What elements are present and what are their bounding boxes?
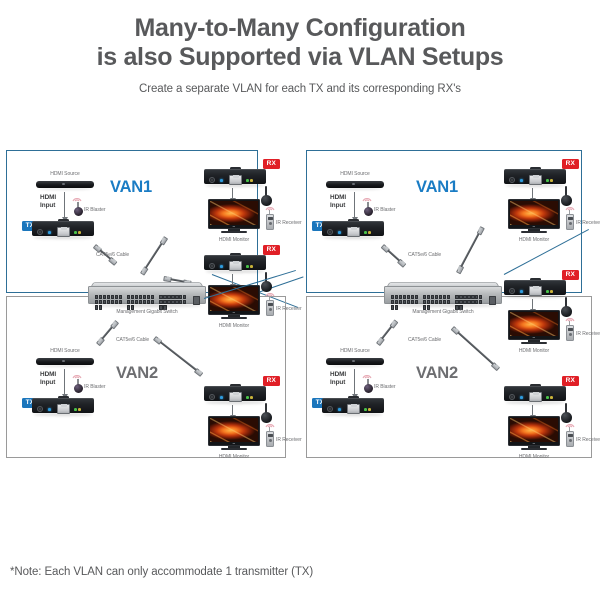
- monitor-bezel: ▬: [508, 416, 560, 446]
- unit-shadow: [506, 295, 564, 298]
- monitor-foot: [221, 448, 247, 450]
- unit-led-blue: [220, 179, 223, 182]
- left-van1-ir-blaster-wave-icon: [71, 195, 83, 202]
- right-van1-hdmi-input-label-2: Input: [330, 202, 345, 209]
- unit-body: [322, 398, 384, 413]
- switch-port: [171, 295, 174, 300]
- switch-port: [175, 295, 178, 300]
- unit-body: [504, 280, 566, 295]
- unit-power-knob: [327, 406, 333, 412]
- unit-led-amber: [250, 265, 253, 268]
- unit-led-amber: [250, 179, 253, 182]
- right-van1-rx2-ir-receiver: [565, 321, 575, 341]
- header: Many-to-Many Configuration is also Suppo…: [0, 0, 600, 95]
- unit-body: [504, 386, 566, 401]
- ir-receiver-body: [266, 300, 274, 316]
- switch-port: [131, 295, 134, 300]
- switch-port: [167, 295, 170, 300]
- monitor-screen-image: [210, 418, 258, 442]
- page-title-line-2: is also Supported via VLAN Setups: [0, 43, 600, 72]
- right-van2-hdmi-input-arrow: [354, 369, 355, 394]
- monitor-logo: ▬: [209, 442, 259, 445]
- right-van1-tx-unit: [322, 218, 384, 239]
- page-root: Many-to-Many Configuration is also Suppo…: [0, 0, 600, 600]
- monitor-logo: ▬: [509, 225, 559, 228]
- unit-shadow: [206, 184, 264, 187]
- unit-led-green: [246, 265, 249, 268]
- switch-port: [471, 295, 474, 300]
- right-van1-rx2-ir-receiver-label: IR Receiver: [576, 331, 600, 337]
- unit-led-blue: [338, 408, 341, 411]
- right-van2-ir-blaster: [362, 379, 374, 393]
- switch-port: [467, 295, 470, 300]
- left-van1-hdmi-source: [36, 179, 94, 190]
- left-van2-ir-blaster: [72, 379, 84, 393]
- switch-chassis: [88, 286, 206, 304]
- unit-power-knob: [327, 229, 333, 235]
- page-title-line-1: Many-to-Many Configuration: [0, 14, 600, 43]
- left-van2-rx1-ir-receiver: [265, 427, 275, 447]
- unit-led-amber: [368, 231, 371, 234]
- left-van2-rx1-unit: [204, 383, 266, 404]
- left-van2-rx1-monitor-label: HDMI Monitor: [204, 454, 264, 460]
- right-van1-ir-blaster: [362, 202, 374, 216]
- switch-shadow: [92, 304, 202, 307]
- switch-port: [103, 295, 106, 300]
- switch-port: [119, 295, 122, 300]
- right-van2-rx1-monitor-label: HDMI Monitor: [504, 454, 564, 460]
- monitor-logo: ▬: [209, 225, 259, 228]
- source-disc-body: [36, 181, 94, 188]
- unit-shadow: [34, 236, 92, 239]
- right-van1-rx1-monitor-label: HDMI Monitor: [504, 237, 564, 243]
- left-van1-rx1-hdmi-arrow: [232, 188, 233, 198]
- unit-led-amber: [78, 408, 81, 411]
- left-van2-rx1-hdmi-arrow: [232, 405, 233, 415]
- switch-port: [107, 295, 110, 300]
- right-van2-rx1-ir-receiver-label: IR Receiver: [576, 437, 600, 443]
- left-van1-hdmi-input-label-1: HDMI: [40, 194, 56, 201]
- unit-power-knob: [37, 229, 43, 235]
- right-van2-tx-unit: [322, 395, 384, 416]
- left-van1-rx2-ir-receiver: [265, 296, 275, 316]
- right-van2-hdmi-input-label-1: HDMI: [330, 371, 346, 378]
- unit-led-blue: [520, 290, 523, 293]
- left-van1-rx2-ir-receiver-label: IR Receiver: [276, 306, 302, 312]
- unit-power-knob: [509, 394, 515, 400]
- unit-led-green: [546, 396, 549, 399]
- unit-power-knob: [509, 288, 515, 294]
- switch-port: [163, 295, 166, 300]
- switch-port: [463, 295, 466, 300]
- right-van2-rx1-monitor: ▬: [508, 416, 560, 452]
- monitor-screen-image: [510, 201, 558, 225]
- switch-port: [403, 295, 406, 300]
- right-van2-rx1-ir-receiver: [565, 427, 575, 447]
- left-van1-ir-blaster-label: IR Blaster: [84, 207, 105, 213]
- monitor-foot: [521, 231, 547, 233]
- ir-blaster-bulb: [74, 384, 83, 393]
- unit-body: [32, 398, 94, 413]
- unit-shadow: [506, 184, 564, 187]
- right-van1-ir-blaster-wave-icon: [361, 195, 373, 202]
- switch-port: [435, 295, 438, 300]
- switch-port: [455, 295, 458, 300]
- ir-receiver-body: [566, 431, 574, 447]
- unit-body: [204, 255, 266, 270]
- left-van2-hdmi-input-label-1: HDMI: [40, 371, 56, 378]
- switch-port: [443, 295, 446, 300]
- unit-led-amber: [78, 231, 81, 234]
- left-van1-hdmi-input-label-2: Input: [40, 202, 55, 209]
- source-disc-body: [326, 181, 384, 188]
- ir-blaster-bulb: [364, 207, 373, 216]
- right-van2-label: VAN2: [416, 364, 458, 383]
- right-van1-hdmi-input-arrow: [354, 192, 355, 217]
- left-van2-rx1-monitor: ▬: [208, 416, 260, 452]
- right-van2-hdmi-input-label-2: Input: [330, 379, 345, 386]
- monitor-foot: [521, 448, 547, 450]
- switch-port: [411, 295, 414, 300]
- left-van1-rx1-ir-receiver: [265, 210, 275, 230]
- unit-led-blue: [520, 179, 523, 182]
- monitor-logo: ▬: [209, 311, 259, 314]
- right-diagram: VAN1 VAN2 HDMI Source HDMI Input IR Blas…: [304, 148, 596, 466]
- footer-note: *Note: Each VLAN can only accommodate 1 …: [10, 566, 313, 578]
- page-subtitle: Create a separate VLAN for each TX and i…: [0, 83, 600, 95]
- ir-receiver-body: [266, 214, 274, 230]
- left-van2-label: VAN2: [116, 364, 158, 383]
- monitor-screen-image: [210, 201, 258, 225]
- unit-power-knob: [209, 177, 215, 183]
- right-van1-rx1-unit: [504, 166, 566, 187]
- switch-port: [143, 295, 146, 300]
- monitor-logo: ▬: [509, 442, 559, 445]
- left-van1-hdmi-input-arrow: [64, 192, 65, 217]
- right-van1-hdmi-source: [326, 179, 384, 190]
- monitor-foot: [221, 317, 247, 319]
- ir-blaster-bulb: [74, 207, 83, 216]
- unit-body: [504, 169, 566, 184]
- unit-power-knob: [209, 394, 215, 400]
- unit-led-amber: [550, 396, 553, 399]
- monitor-bezel: ▬: [508, 199, 560, 229]
- switch-port: [95, 300, 98, 305]
- right-gigabit-switch-label: Management Gigabit Switch: [384, 309, 502, 315]
- monitor-foot: [521, 342, 547, 344]
- switch-port: [95, 295, 98, 300]
- ir-receiver-body: [266, 431, 274, 447]
- switch-port: [111, 295, 114, 300]
- right-van1-rx1-ir-receiver: [565, 210, 575, 230]
- monitor-logo: ▬: [509, 336, 559, 339]
- unit-body: [204, 386, 266, 401]
- unit-shadow: [506, 401, 564, 404]
- unit-led-blue: [220, 396, 223, 399]
- switch-port: [479, 295, 482, 300]
- monitor-screen-image: [510, 312, 558, 336]
- switch-port: [439, 295, 442, 300]
- switch-port: [391, 295, 394, 300]
- source-shadow: [39, 365, 91, 367]
- left-van1-tx-unit: [32, 218, 94, 239]
- right-van1-hdmi-input-label-1: HDMI: [330, 194, 346, 201]
- right-van1-rx2-monitor-label: HDMI Monitor: [504, 348, 564, 354]
- unit-power-knob: [37, 406, 43, 412]
- unit-led-amber: [550, 290, 553, 293]
- left-van1-rx2-unit: [204, 252, 266, 273]
- switch-port: [127, 295, 130, 300]
- left-van1-rx1-monitor: ▬: [208, 199, 260, 235]
- unit-led-green: [546, 290, 549, 293]
- left-diagram: VAN1 VAN2 HDMI Source HDMI Input IR Blas…: [4, 148, 296, 466]
- switch-port: [447, 295, 450, 300]
- switch-port: [183, 295, 186, 300]
- switch-port: [407, 295, 410, 300]
- switch-port: [427, 295, 430, 300]
- switch-sfp-port: [489, 296, 496, 305]
- left-van1-rx2-monitor: ▬: [208, 285, 260, 321]
- right-van1-ir-blaster-label: IR Blaster: [374, 207, 395, 213]
- switch-port: [115, 295, 118, 300]
- left-van2-rx1-ir-receiver-label: IR Receiver: [276, 437, 302, 443]
- switch-port: [139, 295, 142, 300]
- right-van1-rx2-monitor: ▬: [508, 310, 560, 346]
- unit-body: [204, 169, 266, 184]
- unit-led-blue: [48, 231, 51, 234]
- switch-chassis: [384, 286, 502, 304]
- right-van2-hdmi-source: [326, 356, 384, 367]
- monitor-screen-image: [210, 287, 258, 311]
- right-van2-ir-blaster-wave-icon: [361, 372, 373, 379]
- left-van2-cat-cable-label: CAT5e/6 Cable: [116, 337, 149, 343]
- unit-led-green: [74, 231, 77, 234]
- unit-shadow: [206, 270, 264, 273]
- unit-led-amber: [250, 396, 253, 399]
- unit-body: [322, 221, 384, 236]
- ir-blaster-bulb: [364, 384, 373, 393]
- unit-power-knob: [509, 177, 515, 183]
- left-van2-hdmi-input-label-2: Input: [40, 379, 55, 386]
- switch-port: [99, 295, 102, 300]
- source-disc-body: [326, 358, 384, 365]
- left-van1-cat-cable-label: CAT5e/6 Cable: [96, 252, 129, 258]
- left-van1-hdmi-source-label: HDMI Source: [36, 171, 94, 177]
- left-van1-rx2-monitor-label: HDMI Monitor: [204, 323, 264, 329]
- unit-shadow: [324, 236, 382, 239]
- right-van1-cat-cable-label: CAT5e/6 Cable: [408, 252, 441, 258]
- unit-body: [32, 221, 94, 236]
- switch-port: [431, 295, 434, 300]
- source-shadow: [39, 188, 91, 190]
- unit-led-green: [74, 408, 77, 411]
- right-van1-rx2-unit: [504, 277, 566, 298]
- switch-port: [135, 295, 138, 300]
- right-van1-rx1-hdmi-arrow: [532, 188, 533, 198]
- right-van1-hdmi-source-label: HDMI Source: [326, 171, 384, 177]
- right-van1-label: VAN1: [416, 178, 458, 197]
- switch-port: [475, 295, 478, 300]
- monitor-bezel: ▬: [208, 416, 260, 446]
- left-van2-ir-blaster-label: IR Blaster: [84, 384, 105, 390]
- right-van2-rx1-unit: [504, 383, 566, 404]
- right-van1-rx1-ir-receiver-label: IR Receiver: [576, 220, 600, 226]
- switch-sfp-port: [193, 296, 200, 305]
- switch-port: [459, 295, 462, 300]
- left-van2-tx-unit: [32, 395, 94, 416]
- unit-led-blue: [48, 408, 51, 411]
- unit-led-blue: [520, 396, 523, 399]
- right-van2-hdmi-source-label: HDMI Source: [326, 348, 384, 354]
- unit-led-green: [246, 396, 249, 399]
- monitor-bezel: ▬: [508, 310, 560, 340]
- diagram-stage: VAN1 VAN2 HDMI Source HDMI Input IR Blas…: [4, 148, 596, 466]
- ir-receiver-body: [566, 214, 574, 230]
- unit-led-amber: [368, 408, 371, 411]
- monitor-bezel: ▬: [208, 199, 260, 229]
- unit-led-blue: [220, 265, 223, 268]
- switch-port: [179, 295, 182, 300]
- unit-shadow: [34, 413, 92, 416]
- left-van1-rx1-ir-receiver-label: IR Receiver: [276, 220, 302, 226]
- unit-led-green: [364, 408, 367, 411]
- source-shadow: [329, 365, 381, 367]
- left-van1-label: VAN1: [110, 178, 152, 197]
- ir-receiver-body: [566, 325, 574, 341]
- left-van2-hdmi-source-label: HDMI Source: [36, 348, 94, 354]
- switch-port: [423, 295, 426, 300]
- left-van2-ir-blaster-wave-icon: [71, 372, 83, 379]
- right-van1-rx1-monitor: ▬: [508, 199, 560, 235]
- right-van1-rx2-hdmi-arrow: [532, 299, 533, 309]
- switch-port: [159, 295, 162, 300]
- switch-port: [395, 295, 398, 300]
- switch-port: [399, 295, 402, 300]
- left-van1-ir-blaster: [72, 202, 84, 216]
- left-gigabit-switch: [88, 282, 206, 308]
- left-gigabit-switch-label: Management Gigabit Switch: [88, 309, 206, 315]
- switch-shadow: [388, 304, 498, 307]
- left-van2-hdmi-source: [36, 356, 94, 367]
- right-van2-cat-cable-label: CAT5e/6 Cable: [408, 337, 441, 343]
- unit-led-green: [546, 179, 549, 182]
- source-shadow: [329, 188, 381, 190]
- unit-shadow: [324, 413, 382, 416]
- right-van2-ir-blaster-label: IR Blaster: [374, 384, 395, 390]
- switch-port: [415, 295, 418, 300]
- unit-led-green: [364, 231, 367, 234]
- unit-led-green: [246, 179, 249, 182]
- unit-shadow: [206, 401, 264, 404]
- left-van2-hdmi-input-arrow: [64, 369, 65, 394]
- left-van1-rx1-unit: [204, 166, 266, 187]
- switch-port: [151, 295, 154, 300]
- monitor-foot: [221, 231, 247, 233]
- unit-led-blue: [338, 231, 341, 234]
- unit-power-knob: [209, 263, 215, 269]
- unit-led-amber: [550, 179, 553, 182]
- switch-port: [147, 295, 150, 300]
- right-van2-rx1-hdmi-arrow: [532, 405, 533, 415]
- source-disc-body: [36, 358, 94, 365]
- monitor-screen-image: [510, 418, 558, 442]
- left-van1-rx2-hdmi-arrow: [232, 274, 233, 284]
- left-van1-rx1-monitor-label: HDMI Monitor: [204, 237, 264, 243]
- right-gigabit-switch: [384, 282, 502, 308]
- switch-port: [391, 300, 394, 305]
